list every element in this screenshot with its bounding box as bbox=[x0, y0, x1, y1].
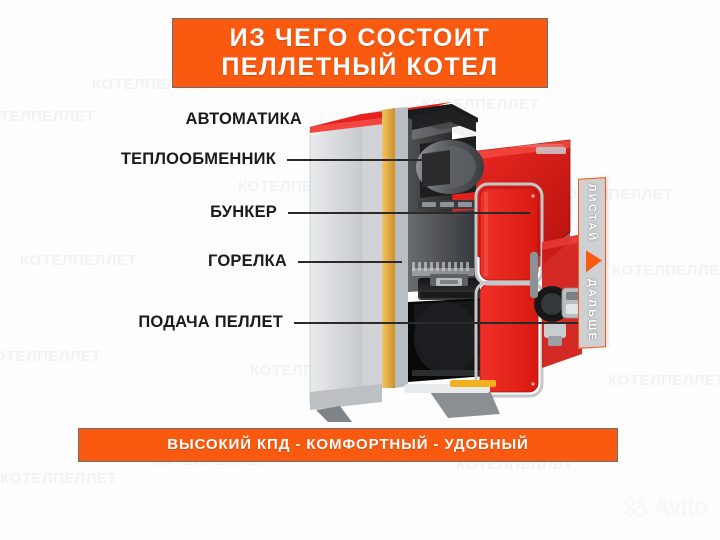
avito-circles-logo bbox=[624, 495, 648, 519]
headline-line-2: ПЕЛЛЕТНЫЙ КОТЕЛ bbox=[221, 53, 498, 83]
combustion-chamber bbox=[408, 298, 486, 382]
callout-label: ТЕПЛООБМЕННИК bbox=[121, 150, 276, 169]
swipe-word-bottom: ДАЛЬШЕ bbox=[586, 278, 598, 342]
watermark-text: КОТЕЛПЕЛЛЕТ bbox=[0, 348, 101, 365]
headline-banner: ИЗ ЧЕГО СОСТОИТ ПЕЛЛЕТНЫЙ КОТЕЛ bbox=[172, 18, 548, 88]
avito-wordmark: Avito bbox=[653, 493, 708, 520]
callout-teploobmennik: ТЕПЛООБМЕННИК bbox=[22, 150, 422, 169]
leader-line bbox=[294, 322, 594, 324]
tagline-banner: ВЫСОКИЙ КПД - КОМФОРТНЫЙ - УДОБНЫЙ bbox=[78, 428, 618, 462]
headline-text: ИЗ ЧЕГО СОСТОИТ ПЕЛЛЕТНЫЙ КОТЕЛ bbox=[221, 24, 498, 83]
watermark-text: КОТЕЛПЕЛЛЕТ bbox=[608, 372, 720, 389]
callout-gorelka: ГОРЕЛКА bbox=[22, 252, 402, 271]
leader-line bbox=[287, 159, 422, 161]
play-triangle-right-icon bbox=[586, 249, 602, 272]
callout-automatika: АВТОМАТИКА bbox=[56, 110, 302, 129]
headline-line-1: ИЗ ЧЕГО СОСТОИТ bbox=[221, 24, 498, 54]
swipe-next-tab[interactable]: ЛИСТАЙ ДАЛЬШЕ bbox=[578, 177, 606, 349]
callout-label: АВТОМАТИКА bbox=[186, 110, 302, 129]
callout-label: ПОДАЧА ПЕЛЛЕТ bbox=[138, 313, 283, 332]
callout-label: БУНКЕР bbox=[210, 203, 277, 222]
leader-line bbox=[298, 261, 402, 263]
callout-bunker: БУНКЕР bbox=[22, 203, 530, 222]
leader-line bbox=[288, 212, 530, 214]
avito-watermark: Avito bbox=[624, 493, 708, 520]
callout-podacha-pellet: ПОДАЧА ПЕЛЛЕТ bbox=[22, 313, 594, 332]
swipe-word-top: ЛИСТАЙ bbox=[586, 184, 598, 243]
tagline-text: ВЫСОКИЙ КПД - КОМФОРТНЫЙ - УДОБНЫЙ bbox=[167, 436, 528, 454]
callout-label: ГОРЕЛКА bbox=[208, 252, 287, 271]
poster-canvas: КОТЕЛПЕЛЛЕТКОТЕЛПЕЛЛЕТКОТЕЛПЕЛЛЕТКОТЕЛПЕ… bbox=[0, 0, 720, 540]
watermark-text: КОТЕЛПЕЛЛЕТ bbox=[0, 470, 117, 487]
watermark-text: КОТЕЛПЕЛЛЕТ bbox=[612, 262, 720, 279]
